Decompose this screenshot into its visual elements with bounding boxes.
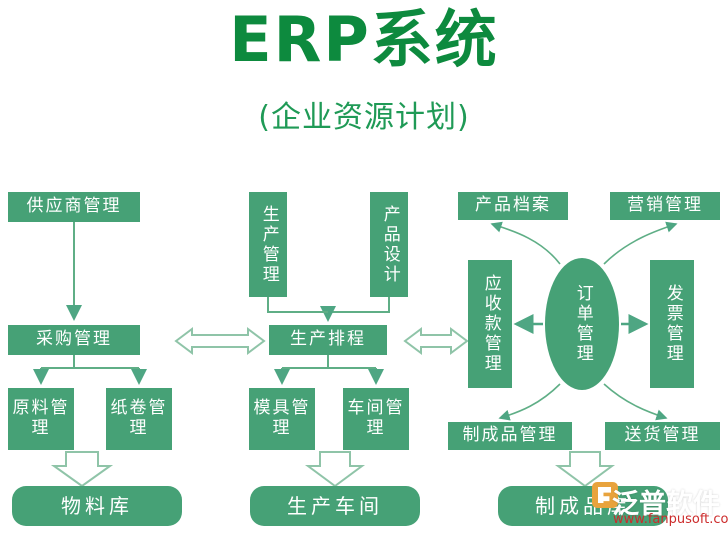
- node-order-mgmt[interactable]: 订单管理: [545, 258, 619, 390]
- page-title: ERP系统: [0, 6, 728, 74]
- link-production-design-to-sched: [268, 297, 389, 320]
- hollow-arrow-to-material-store: [54, 452, 110, 486]
- link-purchase-to-children: [41, 355, 139, 383]
- node-production-sched[interactable]: 生产排程: [269, 325, 387, 355]
- erp-diagram-canvas: ERP系统 (企业资源计划): [0, 0, 728, 540]
- hollow-arrow-to-finished-store: [558, 452, 612, 486]
- page-subtitle: (企业资源计划): [0, 92, 728, 136]
- curve-order-to-finished-mgmt: [500, 384, 560, 418]
- node-material-mgmt[interactable]: 原料管理: [8, 388, 74, 450]
- node-product-design[interactable]: 产品设计: [370, 192, 408, 297]
- curve-order-to-delivery: [604, 384, 666, 418]
- node-material-store[interactable]: 物料库: [12, 486, 182, 526]
- node-product-archive[interactable]: 产品档案: [458, 192, 568, 220]
- curve-order-to-product-archive: [492, 224, 560, 264]
- node-supplier-mgmt[interactable]: 供应商管理: [8, 192, 140, 222]
- node-finished-store[interactable]: 制成品库: [498, 486, 668, 526]
- connector-layer: [0, 0, 728, 540]
- node-production-floor[interactable]: 生产车间: [250, 486, 420, 526]
- node-receivable-mgmt[interactable]: 应收款管理: [468, 260, 512, 388]
- hollow-bidir-sched-receivable: [405, 329, 467, 353]
- node-marketing-mgmt[interactable]: 营销管理: [610, 192, 720, 220]
- curve-order-to-marketing: [604, 224, 676, 264]
- link-sched-to-children: [282, 355, 376, 383]
- node-purchase-mgmt[interactable]: 采购管理: [8, 325, 140, 355]
- hollow-bidir-purchase-sched: [176, 329, 264, 353]
- node-finished-mgmt[interactable]: 制成品管理: [448, 422, 572, 450]
- node-delivery-mgmt[interactable]: 送货管理: [605, 422, 720, 450]
- node-paperroll-mgmt[interactable]: 纸卷管理: [106, 388, 172, 450]
- node-invoice-mgmt[interactable]: 发票管理: [650, 260, 694, 388]
- node-mold-mgmt[interactable]: 模具管理: [249, 388, 315, 450]
- node-workshop-mgmt[interactable]: 车间管理: [343, 388, 409, 450]
- node-production-mgmt[interactable]: 生产管理: [249, 192, 287, 297]
- hollow-arrow-to-production-floor: [308, 452, 362, 486]
